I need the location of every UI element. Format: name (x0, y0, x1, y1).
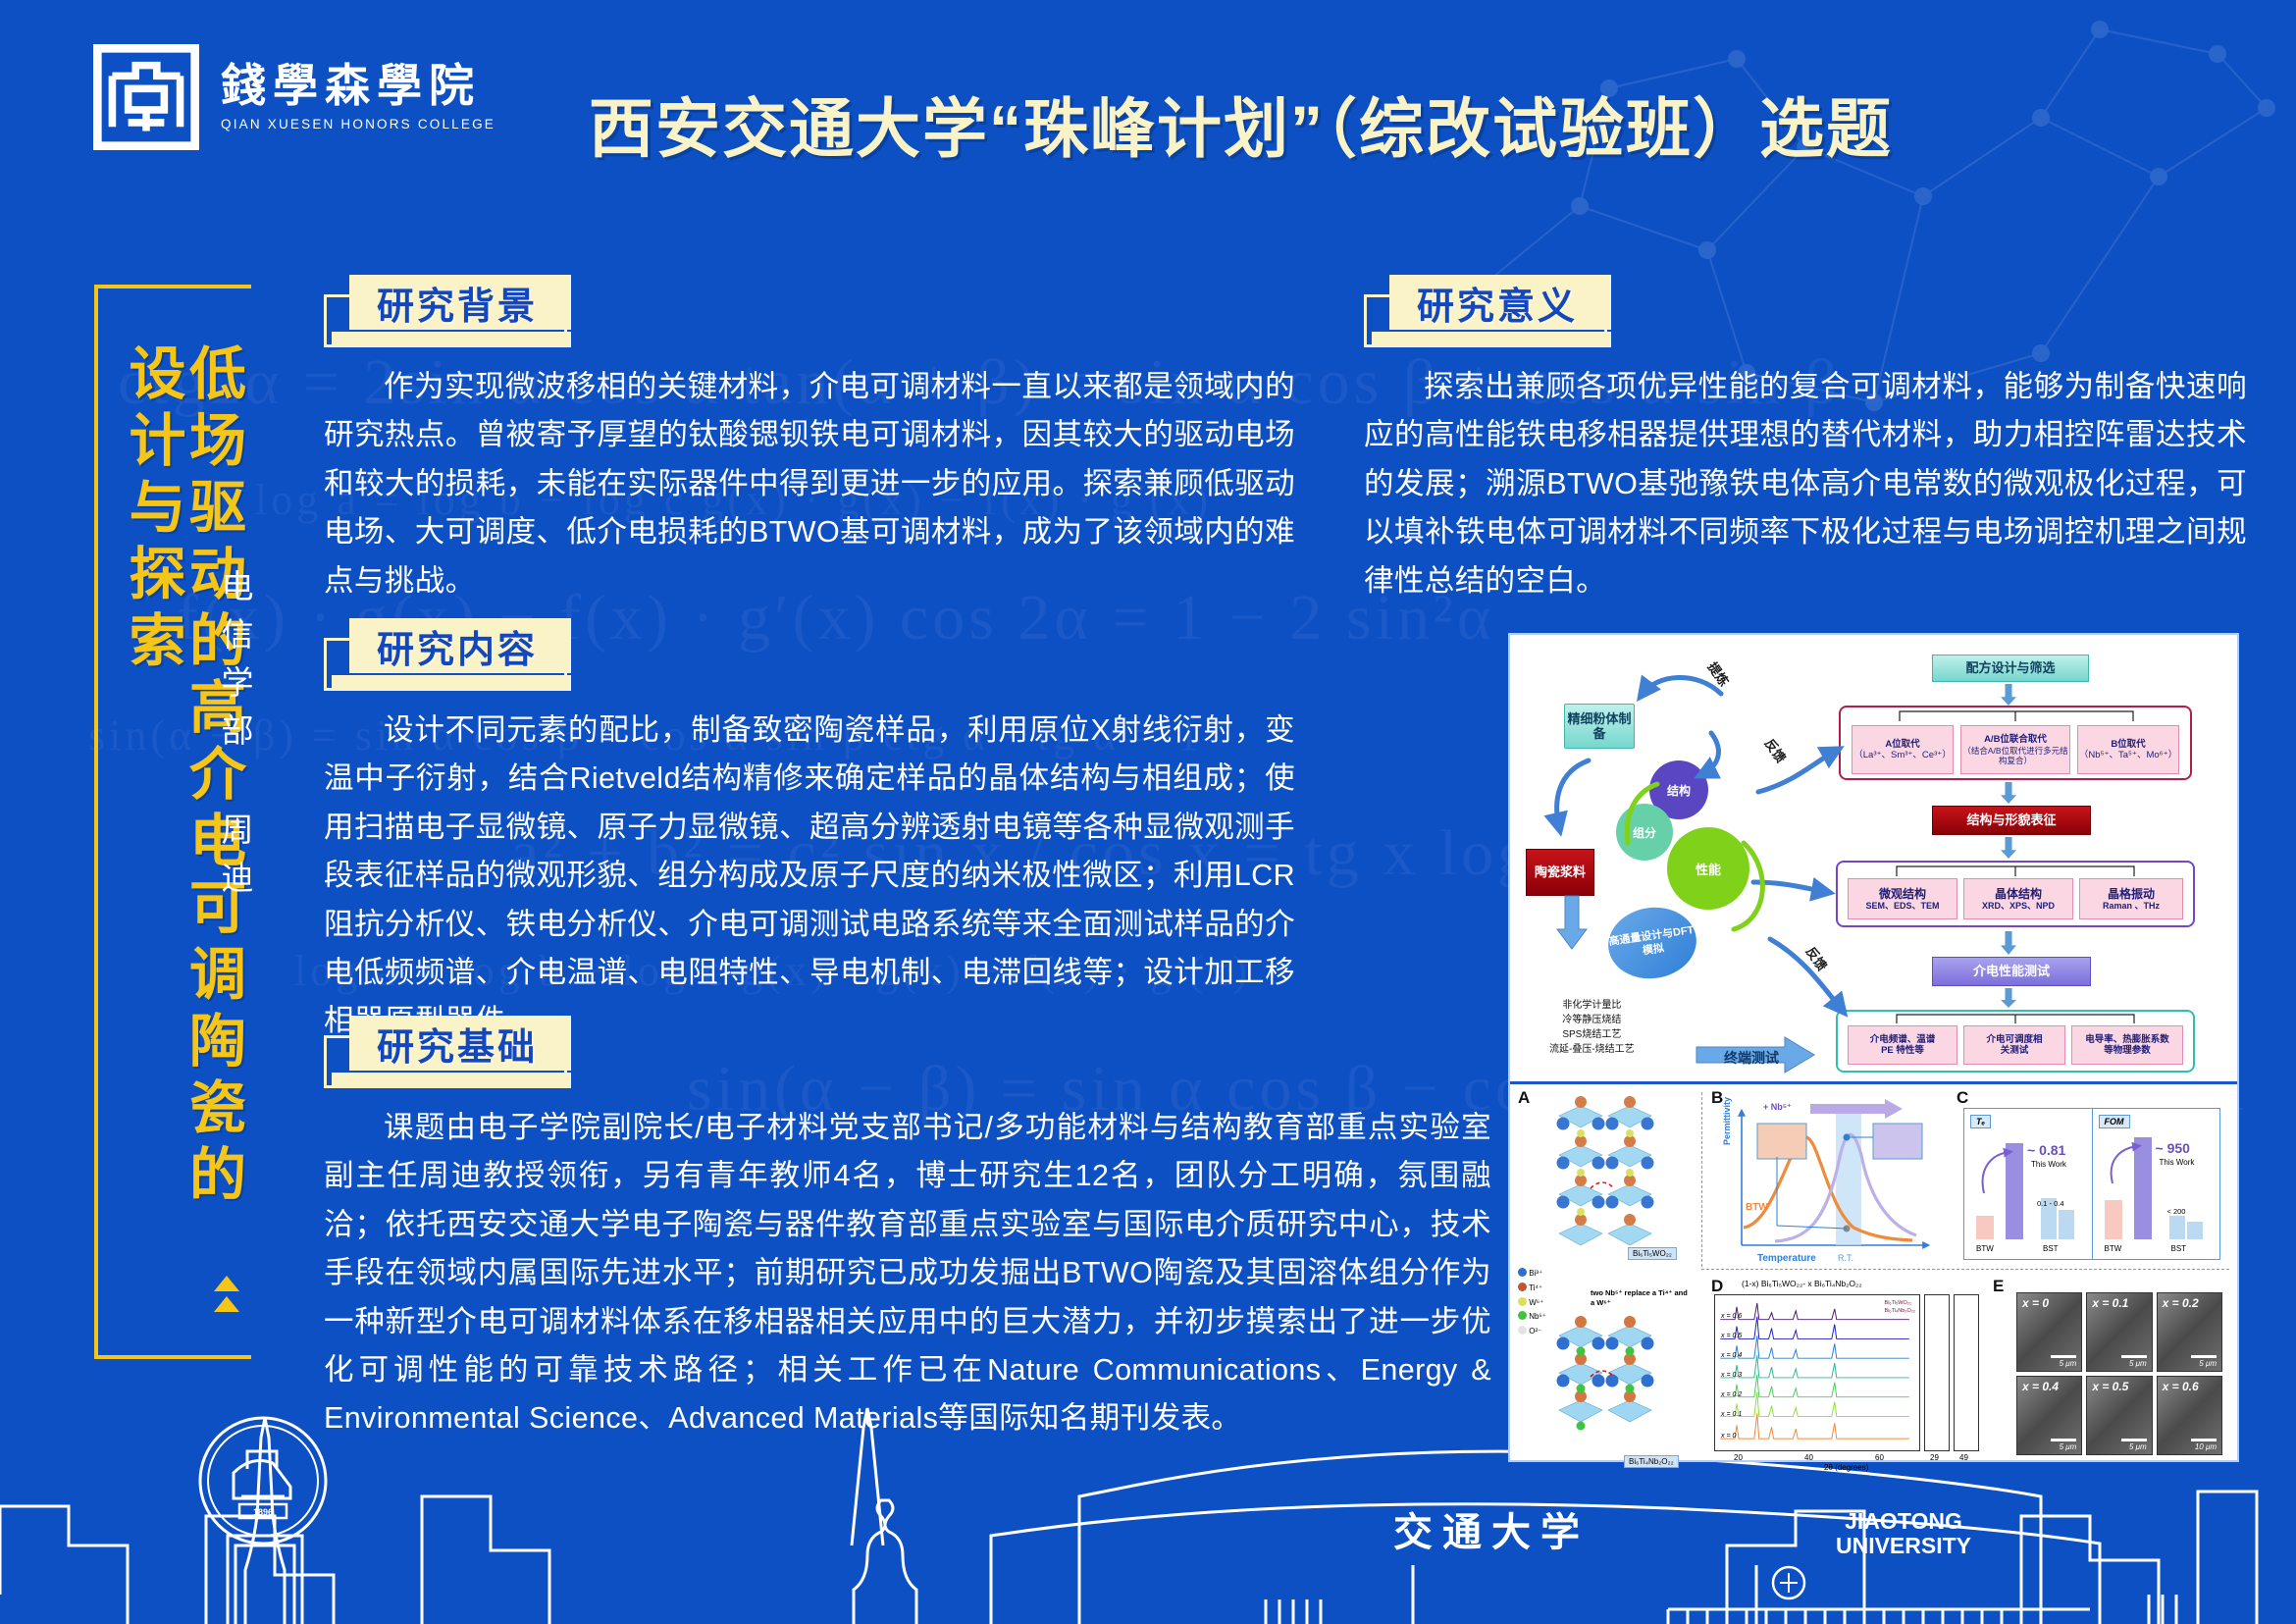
arrow-down-icon (2001, 782, 2016, 804)
section-badge: 研究内容 (324, 618, 1295, 693)
arrow-down-icon (2001, 684, 2016, 706)
research-flowchart: 配方设计与筛选 A位取代 （La³⁺、Sm³⁺、Ce³⁺） A/B位联合取代 （… (1510, 635, 2237, 1081)
sem-label: x = 0.1 (2092, 1296, 2128, 1310)
panel-tag-d: D (1711, 1277, 1723, 1296)
flow-node-crystal-structure: 晶体结构 XRD、XPS、NPD (1963, 878, 2073, 919)
gate-english-line2: UNIVERSITY (1836, 1533, 1971, 1558)
xrd-inset-49 (1954, 1294, 1979, 1451)
badge-underline (332, 1073, 571, 1088)
chart-fom: FOM ~ 950 This Work < 200 BTW BST (2093, 1109, 2220, 1259)
sem-label: x = 0.4 (2022, 1380, 2059, 1393)
group-connector (1839, 706, 2192, 725)
section-research-basis: 研究基础 课题由电子学院副院长/电子材料党支部书记/多功能材料与结构教育部重点实… (324, 1016, 1491, 1443)
section-body: 探索出兼顾各项优异性能的复合可调材料，能够为制备快速响应的高性能铁电移相器提供理… (1364, 363, 2247, 605)
xrd-xtick: 40 (1804, 1453, 1813, 1462)
value-label: ~ 950 (2156, 1140, 2190, 1156)
xrd-traces (1715, 1295, 1919, 1450)
flow-node-lattice-vibration: 晶格振动 Raman 、THz (2079, 878, 2183, 919)
sem-scale: 5 μm (2060, 1359, 2077, 1368)
series-label: x = 0.2 (1721, 1391, 1742, 1398)
section-body: 设计不同元素的配比，制备致密陶瓷样品，利用原位X射线衍射，变温中子衍射，结合Ri… (324, 707, 1295, 1046)
left-vertical-rail: 低场驱动的高介电可调陶瓷的设计与探索 电信学部 周迪 (94, 285, 281, 1364)
flow-label-feedback-1: 反馈 (1761, 734, 1791, 765)
node-title: 电导率、热膨胀系数 (2085, 1034, 2169, 1045)
panel-b-xlabel: Temperature (1757, 1253, 1816, 1264)
flow-node-spectrum-test: 介电频谱、温谱 PE 特性等 (1848, 1025, 1957, 1065)
flow-node-microstructure: 微观结构 SEM、EDS、TEM (1848, 878, 1957, 919)
divider-vertical (1701, 1092, 1702, 1267)
sem-label: x = 0.6 (2163, 1380, 2199, 1393)
node-title: 介电可调度相 (1986, 1034, 2042, 1045)
series-label: x = 0.3 (1721, 1372, 1742, 1379)
flow-node-tunability-test: 介电可调度相 关测试 (1963, 1025, 2065, 1065)
section-research-significance: 研究意义 探索出兼顾各项优异性能的复合可调材料，能够为制备快速响应的高性能铁电移… (1364, 275, 2247, 605)
flow-label-feedback-2: 反馈 (1802, 942, 1832, 973)
bar-btw (2105, 1200, 2122, 1239)
permittivity-chart (1716, 1098, 1942, 1265)
series-label: x = 0.4 (1721, 1352, 1742, 1359)
legend-dot-o (1518, 1326, 1527, 1335)
node-detail: SEM、EDS、TEM (1865, 901, 1939, 912)
node-detail: 关测试 (2001, 1045, 2029, 1056)
legend-label: W⁶⁺ (1529, 1298, 1543, 1307)
flow-node-dft-simulation: 高通量设计与DFT模拟 (1603, 902, 1700, 984)
gate-english-line1: JIAOTONG (1845, 1508, 1962, 1534)
node-detail: （Nb⁵⁺、Ta⁵⁺、Mo⁶⁺） (2079, 750, 2177, 760)
scientific-figure-grid: A (1510, 1081, 2237, 1460)
legend-dot-ti (1518, 1283, 1527, 1291)
section-heading: 研究背景 (377, 276, 538, 330)
sem-scale: 5 μm (2060, 1442, 2077, 1451)
metric-label: FOM (2099, 1115, 2130, 1128)
flow-label-extract: 提炼 (1704, 657, 1734, 689)
flow-node-dielectric-test: 介电性能测试 (1932, 957, 2091, 986)
bar-this-work (2006, 1143, 2023, 1239)
badge-underline (1372, 332, 1611, 347)
node-title: 晶格振动 (2108, 887, 2155, 901)
note-label: This Work (2031, 1160, 2066, 1169)
bar-bst-2 (2059, 1210, 2074, 1239)
section-body: 作为实现微波移相的关键材料，介电可调材料一直以来都是领域内的研究热点。曾被寄予厚… (324, 363, 1295, 605)
chart-tunability: Tₑ ~ 0.81 This Work 0.1 - 0.4 BTW BST (1964, 1109, 2093, 1259)
series-label: x = 0.6 (1721, 1313, 1742, 1320)
node-detail: PE 特性等 (1881, 1045, 1924, 1056)
bar-btw (1976, 1216, 1994, 1239)
sem-cell: x = 0.1 5 μm (2086, 1292, 2152, 1372)
logo-chinese-name: 錢學森學院 (221, 63, 496, 110)
arrow-down-icon (2001, 837, 2016, 859)
sem-cell: x = 0.6 10 μm (2157, 1376, 2222, 1455)
badge-fill: 研究背景 (349, 275, 571, 330)
process-item: 非化学计量比 (1549, 998, 1635, 1013)
scale-bar (2051, 1439, 2076, 1441)
sem-image-grid: x = 0 5 μm x = 0.1 5 μm x = 0.2 5 μm x =… (2016, 1292, 2222, 1455)
bar-tick-bst: BST (2171, 1244, 2187, 1253)
node-title: 晶体结构 (1995, 887, 2042, 901)
sem-scale: 5 μm (2129, 1442, 2147, 1451)
bar-bst-1 (2169, 1216, 2185, 1239)
scale-bar (2121, 1355, 2147, 1358)
flow-node-formula-design: 配方设计与筛选 (1932, 655, 2089, 682)
badge-fill: 研究内容 (349, 618, 571, 673)
sem-scale: 5 μm (2199, 1359, 2217, 1368)
panel-tag-e: E (1993, 1277, 2004, 1296)
formula-label-top: Bi₆Ti₅WO₂₂ (1628, 1247, 1677, 1260)
group-connector (1836, 861, 2195, 880)
gate-chinese-text: 交通大学 (1393, 1510, 1590, 1554)
research-figure-panel: 配方设计与筛选 A位取代 （La³⁺、Sm³⁺、Ce³⁺） A/B位联合取代 （… (1508, 633, 2239, 1462)
badge-fill: 研究基础 (349, 1016, 571, 1071)
bar-tick-bst: BST (2043, 1244, 2059, 1253)
gear-performance: 性能 (1667, 827, 1749, 910)
panel-b-curve-label: BTW (1746, 1202, 1768, 1213)
process-item: 冷等静压烧结 (1549, 1013, 1635, 1027)
sem-scale: 5 μm (2129, 1359, 2147, 1368)
panel-b-rt-label: R.T. (1838, 1253, 1853, 1263)
bar-this-work (2134, 1137, 2152, 1239)
legend-dot-w (1518, 1297, 1527, 1306)
node-title: A/B位联合取代 (1984, 734, 2047, 745)
poster-header: 錢學森學院 QIAN XUESEN HONORS COLLEGE 西安交通大学“… (0, 0, 2296, 196)
chevron-up-icon (214, 1276, 239, 1317)
series-label: x = 0.1 (1721, 1411, 1742, 1418)
series-label: x = 0.5 (1721, 1333, 1742, 1339)
legend-label: Ti⁴⁺ (1529, 1283, 1542, 1292)
flow-node-powder-prep: 精细粉体制备 (1564, 704, 1635, 749)
gear-composition: 组分 (1616, 804, 1673, 861)
node-title: 介电频谱、温谱 (1870, 1034, 1936, 1045)
metric-label: Tₑ (1970, 1115, 1991, 1128)
panel-b-arrow-label: + Nb⁵⁺ (1763, 1102, 1792, 1113)
section-badge: 研究意义 (1364, 275, 2247, 349)
sem-scale: 10 μm (2195, 1442, 2217, 1451)
note-label: This Work (2160, 1158, 2195, 1167)
bar-bst-2 (2187, 1222, 2203, 1239)
node-title: B位取代 (2111, 739, 2145, 750)
section-heading: 研究基础 (377, 1017, 538, 1071)
process-item: SPS烧结工艺 (1549, 1027, 1635, 1042)
sem-label: x = 0 (2022, 1296, 2049, 1310)
sem-cell: x = 0 5 μm (2016, 1292, 2082, 1372)
author-vertical-label: 电信学部 周迪 (210, 569, 257, 909)
node-title: 微观结构 (1879, 887, 1926, 901)
panel-tag-c: C (1957, 1088, 1968, 1108)
badge-underline (332, 675, 571, 691)
college-logo: 錢學森學院 QIAN XUESEN HONORS COLLEGE (93, 44, 496, 150)
value-label: ~ 0.81 (2027, 1142, 2065, 1158)
logo-english-name: QIAN XUESEN HONORS COLLEGE (221, 117, 496, 131)
node-detail: （结合A/B位取代进行多元结构复合） (1961, 746, 2069, 765)
sem-cell: x = 0.2 5 μm (2157, 1292, 2222, 1372)
section-research-content: 研究内容 设计不同元素的配比，制备致密陶瓷样品，利用原位X射线衍射，变温中子衍射… (324, 618, 1295, 1046)
compare-label: < 200 (2167, 1207, 2186, 1216)
flow-node-ab-site: A/B位联合取代 （结合A/B位取代进行多元结构复合） (1960, 725, 2070, 774)
compare-label: 0.1 - 0.4 (2037, 1199, 2064, 1208)
panel-b-ylabel: Permittivity (1722, 1097, 1732, 1145)
bar-tick-btw: BTW (2105, 1244, 2122, 1253)
sem-label: x = 0.2 (2163, 1296, 2199, 1310)
node-detail: （La³⁺、Sm³⁺、Ce³⁺） (1853, 750, 1952, 760)
scale-bar (2191, 1439, 2217, 1441)
flow-node-a-site: A位取代 （La³⁺、Sm³⁺、Ce³⁺） (1852, 725, 1954, 774)
panel-c-charts: Tₑ ~ 0.81 This Work 0.1 - 0.4 BTW BST FO… (1963, 1108, 2220, 1260)
legend-label: Bi³⁺ (1529, 1269, 1542, 1278)
flow-process-list: 非化学计量比 冷等静压烧结 SPS烧结工艺 流延-叠压-烧结工艺 (1549, 998, 1635, 1057)
flow-node-ceramic-slurry: 陶瓷浆料 (1526, 849, 1594, 896)
page-title: 西安交通大学“珠峰计划”（综改试验班）选题 (589, 77, 2257, 171)
panel-a-annotation: two Nb⁵⁺ replace a Ti⁴⁺ and a W⁶⁺ (1591, 1288, 1694, 1308)
seal-square-logo-icon (93, 44, 199, 150)
process-item: 流延-叠压-烧结工艺 (1549, 1042, 1635, 1057)
sem-label: x = 0.5 (2092, 1380, 2128, 1393)
scale-bar (2121, 1439, 2147, 1441)
panel-d-title: (1-x) Bi₆Ti₅WO₂₂- x Bi₆Ti₄Nb₂O₂₂ (1742, 1279, 1862, 1288)
crystal-structure-top (1539, 1094, 1687, 1266)
badge-fill: 研究意义 (1389, 275, 1611, 330)
xrd-xtick: 60 (1875, 1453, 1884, 1462)
legend-dot-nb (1518, 1311, 1527, 1320)
section-badge: 研究基础 (324, 1016, 1491, 1090)
legend-entry: Bi₆Ti₅WO₂₂ (1885, 1299, 1915, 1307)
flow-node-physical-params: 电导率、热膨胀系数 等物理参数 (2071, 1025, 2183, 1065)
section-heading: 研究内容 (377, 619, 538, 673)
node-detail: Raman 、THz (2103, 901, 2160, 912)
section-heading: 研究意义 (1417, 276, 1578, 330)
node-detail: 等物理参数 (2104, 1045, 2151, 1056)
xrd-legend: Bi₆Ti₅WO₂₂ Bi₆Ti₄Nb₂O₂₂ (1885, 1299, 1915, 1316)
scale-bar (2191, 1355, 2217, 1358)
node-title: A位取代 (1885, 739, 1919, 750)
badge-underline (332, 332, 571, 347)
section-badge: 研究背景 (324, 275, 1295, 349)
arrow-down-icon (2001, 931, 2016, 955)
xrd-xtick: 29 (1930, 1453, 1939, 1462)
flow-node-characterization: 结构与形貌表征 (1932, 806, 2091, 835)
section-body: 课题由电子学院副院长/电子材料党支部书记/多功能材料与结构教育部重点实验室副主任… (324, 1104, 1491, 1443)
node-detail: XRD、XPS、NPD (1982, 901, 2055, 912)
flow-label-terminal-test: 终端测试 (1724, 1048, 1779, 1068)
sem-cell: x = 0.4 5 μm (2016, 1376, 2082, 1455)
xrd-xtick: 49 (1959, 1453, 1968, 1462)
xrd-plot: x = 0.6 x = 0.5 x = 0.4 x = 0.3 x = 0.2 … (1714, 1294, 1920, 1451)
xrd-xtick: 20 (1734, 1453, 1743, 1462)
xjtu-seal-icon: 1896 (200, 1418, 326, 1544)
legend-entry: Bi₆Ti₄Nb₂O₂₂ (1885, 1307, 1915, 1315)
formula-label-bottom: Bi₆Ti₄Nb₂O₂₂ (1624, 1455, 1679, 1468)
scale-bar (2051, 1355, 2076, 1358)
flow-node-b-site: B位取代 （Nb⁵⁺、Ta⁵⁺、Mo⁶⁺） (2077, 725, 2179, 774)
divider-horizontal (1701, 1269, 2229, 1270)
crystal-structure-bottom (1539, 1316, 1687, 1463)
bar-tick-btw: BTW (1976, 1244, 1994, 1253)
sem-cell: x = 0.5 5 μm (2086, 1376, 2152, 1455)
panel-d-xlabel: 2θ (degrees) (1824, 1463, 1868, 1472)
seal-year: 1896 (253, 1507, 273, 1517)
series-label: x = 0 (1721, 1433, 1736, 1440)
arrow-down-icon (2001, 988, 2016, 1008)
panel-tag-a: A (1518, 1088, 1530, 1108)
section-research-background: 研究背景 作为实现微波移相的关键材料，介电可调材料一直以来都是领域内的研究热点。… (324, 275, 1295, 605)
legend-dot-bi (1518, 1268, 1527, 1277)
xrd-inset-29 (1924, 1294, 1950, 1451)
